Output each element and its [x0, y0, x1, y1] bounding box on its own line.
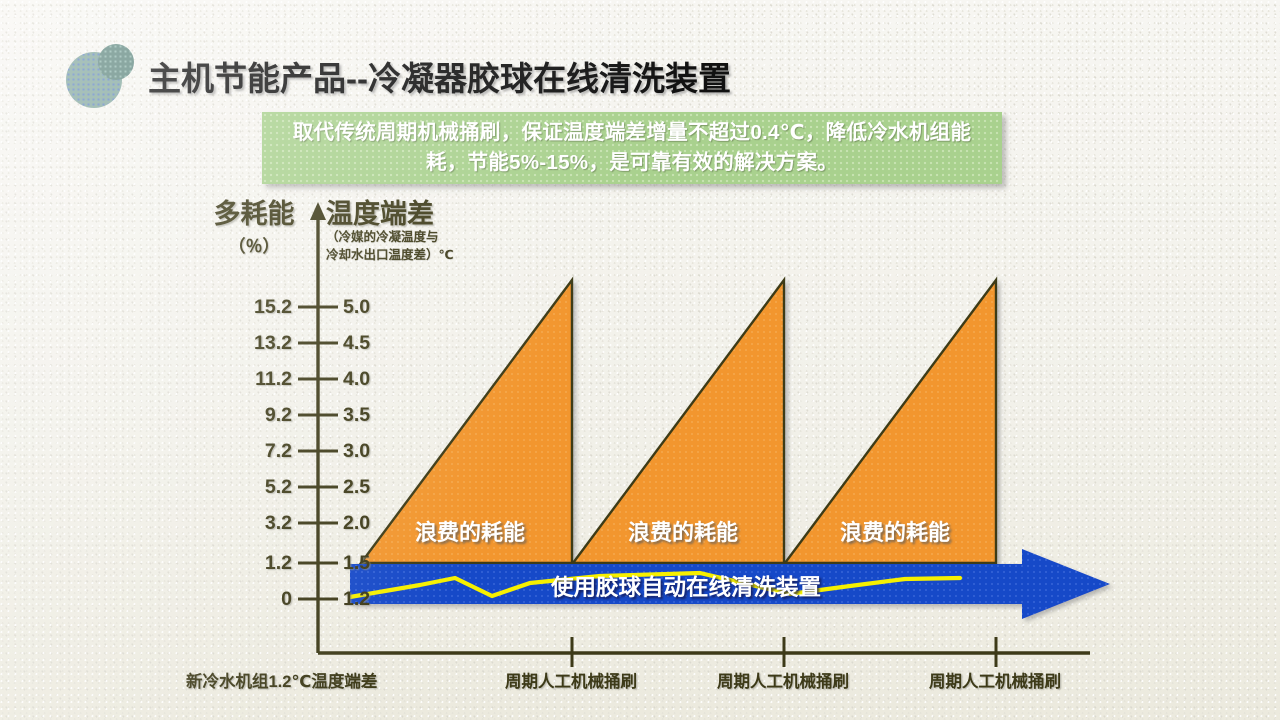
y-tick-left-5: 5.2 — [200, 476, 292, 498]
y-tick-right-label: 4.0 — [343, 368, 413, 391]
y-tick-left-label: 0 — [200, 588, 292, 611]
y-tick-left-7: 1.2 — [200, 552, 292, 574]
y-tick-right-label: 1.2 — [343, 588, 413, 611]
y-tick-left-3: 9.2 — [200, 404, 292, 426]
y-tick-right-label: 1.5 — [343, 552, 413, 575]
y-tick-right-label: 3.5 — [343, 404, 413, 427]
y-axis-arrowhead-icon — [310, 202, 326, 220]
y-tick-left-0: 15.2 — [200, 296, 292, 318]
y-tick-left-6: 3.2 — [200, 512, 292, 534]
y-tick-right-label: 2.5 — [343, 476, 413, 499]
y-tick-left-label: 1.2 — [200, 552, 292, 575]
y-tick-left-1: 13.2 — [200, 332, 292, 354]
y-tick-right-3: 3.5 — [343, 404, 413, 426]
y-tick-right-1: 4.5 — [343, 332, 413, 354]
chart: 多耗能 （％） 温度端差 （冷媒的冷凝温度与 冷却水出口温度差）℃ — [0, 0, 1280, 720]
waste-label-1: 浪费的耗能 — [415, 515, 525, 547]
y-tick-left-4: 7.2 — [200, 440, 292, 462]
y-tick-left-2: 11.2 — [200, 368, 292, 390]
y-tick-left-label: 13.2 — [200, 332, 292, 355]
x-tick-label-1: 周期人工机械捅刷 — [505, 668, 637, 692]
y-tick-left-8: 0 — [200, 588, 292, 610]
waste-label-2: 浪费的耗能 — [628, 515, 738, 547]
y-tick-right-label: 2.0 — [343, 512, 413, 535]
y-tick-right-4: 3.0 — [343, 440, 413, 462]
x-tick-label-3: 周期人工机械捅刷 — [929, 668, 1061, 692]
y-tick-right-7: 1.5 — [343, 552, 413, 574]
y-tick-left-label: 7.2 — [200, 440, 292, 463]
y-tick-left-label: 9.2 — [200, 404, 292, 427]
y-tick-left-label: 15.2 — [200, 296, 292, 319]
y-tick-right-label: 4.5 — [343, 332, 413, 355]
x-tick-label-2: 周期人工机械捅刷 — [717, 668, 849, 692]
slide-canvas: 主机节能产品--冷凝器胶球在线清洗装置 取代传统周期机械捅刷，保证温度端差增量不… — [0, 0, 1280, 720]
y-tick-right-label: 3.0 — [343, 440, 413, 463]
y-tick-right-2: 4.0 — [343, 368, 413, 390]
y-tick-left-label: 11.2 — [200, 368, 292, 391]
x-tick-label-0: 新冷水机组1.2℃温度端差 — [186, 668, 377, 692]
y-tick-right-label: 5.0 — [343, 296, 413, 319]
waste-label-3: 浪费的耗能 — [840, 515, 950, 547]
y-tick-right-5: 2.5 — [343, 476, 413, 498]
chart-svg — [0, 0, 1280, 720]
y-tick-left-label: 5.2 — [200, 476, 292, 499]
y-tick-right-0: 5.0 — [343, 296, 413, 318]
y-tick-right-6: 2.0 — [343, 512, 413, 534]
y-tick-right-8: 1.2 — [343, 588, 413, 610]
y-tick-left-label: 3.2 — [200, 512, 292, 535]
